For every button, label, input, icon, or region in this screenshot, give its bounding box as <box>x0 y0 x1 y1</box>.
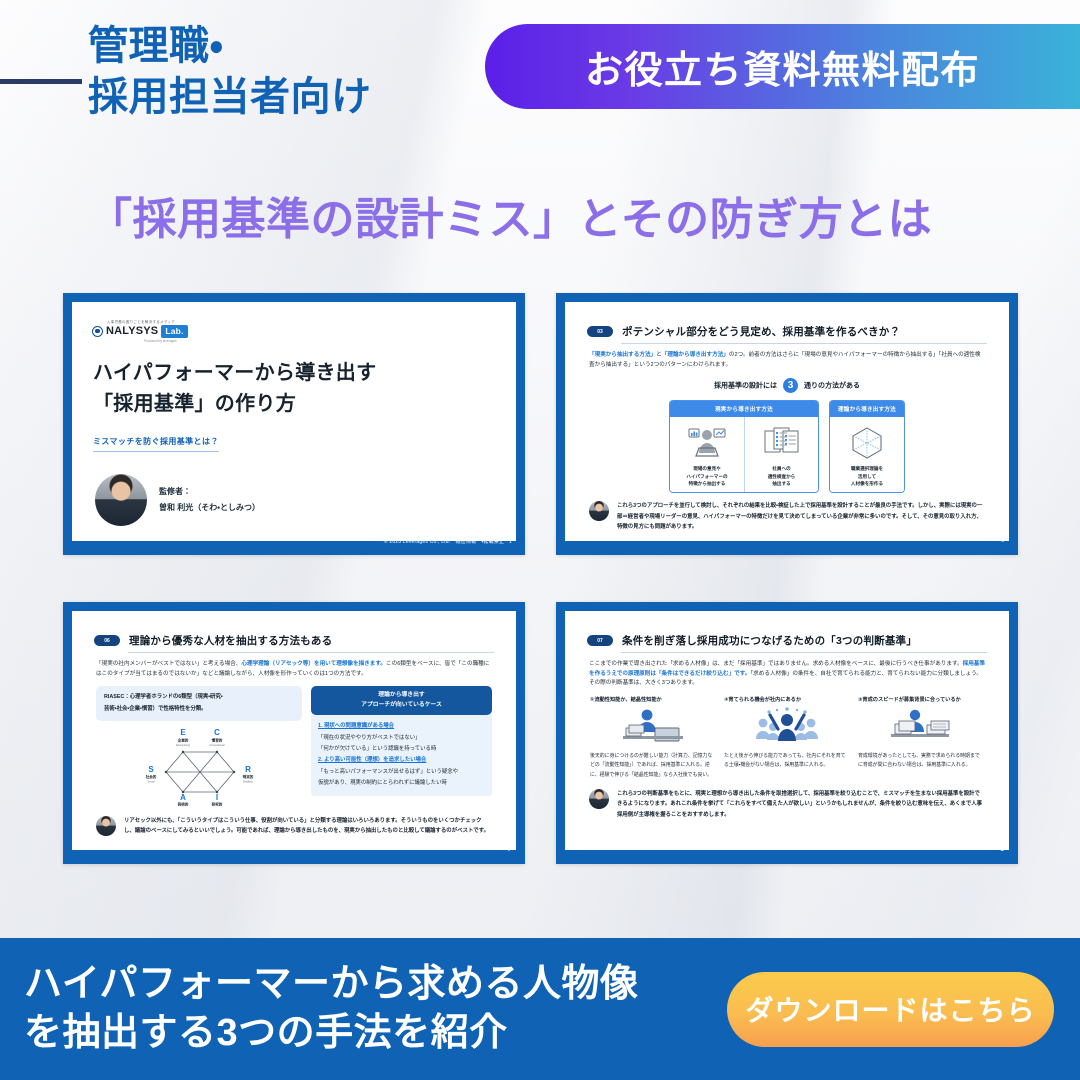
logo-name: NALYSYS <box>106 325 158 337</box>
supervisor-block: 監修者： 曽和 利光（そわ・としみつ） <box>95 474 502 526</box>
slide-footer-bar <box>556 850 1018 864</box>
svg-text:Realistic: Realistic <box>243 779 254 783</box>
slide-03-center-line: 採用基準の設計には 3 通りの方法がある <box>579 378 995 393</box>
criterion-3-head: ③育成のスピードが募集背景に合っているか <box>858 696 984 703</box>
criterion-2: ②育てられる機会が社内にあるか <box>724 696 850 781</box>
supervisor-label: 監修者： <box>159 484 260 499</box>
note-avatar <box>96 816 116 836</box>
cover-title-line2: 「採用基準」の作り方 <box>93 389 502 420</box>
theory-approach-item-1: 1. 現状への問題意識がある場合 <box>318 721 485 732</box>
slide-thumbnail-03[interactable]: 03 ポテンシャル部分をどう見定め、採用基準を作るべきか？ 「現実から抽出する方… <box>556 293 1018 555</box>
free-material-badge-label: お役立ち資料無料配布 <box>585 39 980 94</box>
supervisor-avatar <box>95 474 147 526</box>
logo-lab-badge: Lab. <box>161 325 187 338</box>
slide-03-center-prefix: 採用基準の設計には <box>714 383 777 390</box>
theory-approach-panel-body: 1. 現状への問題意識がある場合 「現在の状況ややり方がベストではない」 「何か… <box>311 715 492 796</box>
svg-text:Social: Social <box>147 779 154 783</box>
slide-page-number: 1 <box>509 539 512 545</box>
slide-03-note-text: これら3つのアプローチを並行して検討し、それぞれの結果を比較・検証した上で採用基… <box>617 501 984 533</box>
note-avatar <box>589 501 609 521</box>
logo-mark-icon <box>92 326 103 337</box>
method-cell-field-opinion-caption: 現場の意見やハイパフォーマーの特徴から抽出する <box>674 465 740 487</box>
criterion-3-text: 育成環境があったとしても、実務で求められる時期までに育成が間に合わない場合は、採… <box>858 752 984 771</box>
slide-copyright: © 2025 Leverages Co., Ltd. 機密情報 ・転載禁止 1 <box>384 538 512 545</box>
hexagon-radar-icon <box>834 423 900 461</box>
slide-03-lead-highlight-2: 「理論から導き出す方法」 <box>662 352 729 358</box>
header-kicker-line2: 採用担当者向け <box>88 72 488 123</box>
slide-06-title-rule <box>128 652 494 653</box>
theory-approach-item-6: 仮説があり、現実の制約にとらわれずに議論したい時 <box>318 778 485 789</box>
cover-subtitle: ミスマッチを防ぐ採用基準とは？ <box>93 436 219 452</box>
svg-text:現実的: 現実的 <box>243 774 254 779</box>
svg-text:R: R <box>245 765 251 774</box>
slide-07-lead-highlight: 採用基準を作るうえでの原理原則は「条件はできるだけ絞り込む」です。 <box>589 661 985 677</box>
slide-06-lead: 「現実の社内メンバーがベストではない」と考える場合、心理学理論（リアセック等）を… <box>96 660 492 679</box>
cta-headline: ハイパフォーマーから求める人物像 を抽出する3つの手法を紹介 <box>24 960 638 1059</box>
slide-03-number-bubble: 3 <box>783 378 798 393</box>
header-rule <box>0 79 82 84</box>
method-group-reality: 現実から導き出す方法 <box>669 400 819 493</box>
slide-07-title: 条件を削ぎ落し採用成功につなげるための「3つの判断基準」 <box>622 633 917 648</box>
svg-text:研究的: 研究的 <box>212 801 223 806</box>
person-documents-icon <box>858 705 984 749</box>
method-cell-career-theory-caption: 職業選択理論を活用して人材像を形作る <box>834 465 900 487</box>
criterion-2-head: ②育てられる機会が社内にあるか <box>724 696 850 703</box>
cta-banner: ハイパフォーマーから求める人物像 を抽出する3つの手法を紹介 ダウンロードはこち… <box>0 938 1080 1080</box>
svg-text:Enterprising: Enterprising <box>176 743 190 747</box>
note-avatar <box>589 789 609 809</box>
method-group-reality-head: 現実から導き出す方法 <box>670 401 818 417</box>
slide-footer-bar <box>63 850 525 864</box>
slide-03-lead-highlight-1: 「現実から抽出する方法」 <box>589 352 656 358</box>
logo-subline: Produced by leverages <box>144 339 502 343</box>
criterion-1: ①流動性知能か、結晶性知能か <box>590 696 716 781</box>
method-cell-aptitude-test: 社員への適性検査から抽出する <box>744 417 818 492</box>
slide-preview-grid: 人事労務の困りごとを解決するメディア NALYSYS Lab. Produced… <box>63 293 1018 873</box>
riasec-hexagon-diagram: E 企業的 Enterprising C 慣習的 Conventional S … <box>96 724 302 808</box>
nalysys-lab-logo: 人事労務の困りごとを解決するメディア NALYSYS Lab. Produced… <box>92 319 502 343</box>
method-cell-field-opinion: 現場の意見やハイパフォーマーの特徴から抽出する <box>670 417 744 492</box>
slide-footer-bar <box>556 541 1018 555</box>
method-group-theory: 理論から導き出す方法 <box>829 400 905 493</box>
slide-07-badge: 07 <box>587 635 613 646</box>
theory-approach-item-3: 「何かが欠けている」という認識を持っている時 <box>318 744 485 755</box>
svg-text:E: E <box>180 728 186 737</box>
slide-page-number: 4 <box>1001 538 1004 544</box>
person-laptop-chart-icon <box>674 423 740 461</box>
cover-title: ハイパフォーマーから導き出す 「採用基準」の作り方 <box>93 358 502 420</box>
download-button[interactable]: ダウンロードはこちら <box>727 972 1054 1047</box>
slide-03-title: ポテンシャル部分をどう見定め、採用基準を作るべきか？ <box>622 324 900 339</box>
criterion-1-head: ①流動性知能か、結晶性知能か <box>590 696 716 703</box>
poster-root: 管理職・ 採用担当者向け お役立ち資料無料配布 「採用基準の設計ミス」とその防ぎ… <box>0 0 1080 1080</box>
slide-07-lead: ここまでの作業で導き出された「求める人材像」は、まだ「採用基準」ではありません。… <box>589 660 985 689</box>
header-kicker-line1: 管理職・ <box>88 21 488 72</box>
svg-text:企業的: 企業的 <box>177 737 189 742</box>
header-kicker: 管理職・ 採用担当者向け <box>88 21 488 123</box>
riasec-definition: RIASEC：心理学者ホランドの6類型（現実・研究・ 芸術・社会・企業・慣習）で… <box>96 686 302 721</box>
slide-07-title-rule <box>621 652 987 653</box>
slide-03-title-rule <box>621 343 987 344</box>
method-cell-career-theory: 職業選択理論を活用して人材像を形作る <box>830 417 904 492</box>
riasec-caption-line1: RIASEC：心理学者ホランドの6類型（現実・研究・ <box>104 692 294 703</box>
slide-06-title: 理論から優秀な人材を抽出する方法もある <box>129 633 332 648</box>
svg-text:I: I <box>216 793 218 802</box>
method-cell-aptitude-test-caption: 社員への適性検査から抽出する <box>749 465 814 487</box>
slide-07-note-text: これら3つの判断基準をもとに、現実と理想から導き出した条件を取捨選択して、採用基… <box>617 789 984 821</box>
theory-approach-head-line2: アプローチが向いているケース <box>311 701 492 711</box>
slide-03-method-columns: 現実から導き出す方法 <box>579 400 995 493</box>
person-desk-laptop-icon <box>590 705 716 749</box>
svg-text:慣習的: 慣習的 <box>211 737 223 742</box>
svg-text:社会的: 社会的 <box>145 774 157 779</box>
page-title: 「採用基準の設計ミス」とその防ぎ方とは <box>88 183 1028 247</box>
copyright-text: © 2025 Leverages Co., Ltd. 機密情報 ・転載禁止 <box>384 539 504 545</box>
documents-stack-icon <box>749 423 814 461</box>
slide-03-note: これら3つのアプローチを並行して検討し、それぞれの結果を比較・検証した上で採用基… <box>589 501 984 533</box>
svg-text:S: S <box>148 765 154 774</box>
slide-page-number: 7 <box>508 847 511 853</box>
slide-07-note: これら3つの判断基準をもとに、現実と理想から導き出した条件を取捨選択して、採用基… <box>589 789 984 821</box>
method-group-theory-head: 理論から導き出す方法 <box>830 401 904 417</box>
slide-06-badge: 06 <box>94 635 120 646</box>
criterion-3: ③育成のスピードが募集背景に合っているか <box>858 696 984 781</box>
criterion-2-text: たとえ後から伸びる能力であっても、社内にそれを育てる土壌・機会がない場合は、採用… <box>724 752 850 771</box>
theory-approach-item-2: 「現在の状況ややり方がベストではない」 <box>318 733 485 744</box>
svg-text:C: C <box>214 728 220 737</box>
slide-03-badge: 03 <box>587 326 613 337</box>
svg-text:Conventional: Conventional <box>209 743 225 747</box>
cta-headline-line2: を抽出する3つの手法を紹介 <box>24 1009 638 1058</box>
theory-approach-item-4: 2. より高い可能性（理想）を追求したい場合 <box>318 755 485 766</box>
slide-thumbnail-07[interactable]: 07 条件を削ぎ落し採用成功につなげるための「3つの判断基準」 ここまでの作業で… <box>556 602 1018 864</box>
slide-06-lead-highlight: 心理学理論（リアセック等）を用いて理想像を描きます。 <box>241 661 386 667</box>
cta-headline-line1: ハイパフォーマーから求める人物像 <box>24 960 638 1009</box>
theory-approach-panel-head: 理論から導き出す アプローチが向いているケース <box>311 686 492 715</box>
theory-approach-head-line1: 理論から導き出す <box>311 691 492 701</box>
slide-06-note-text: リアセック以外にも、「こういうタイプはこういう仕事、役割が向いている」と分類する… <box>124 816 491 837</box>
download-button-label: ダウンロードはこちら <box>745 989 1035 1029</box>
supervisor-name: 曽和 利光（そわ・としみつ） <box>159 500 260 515</box>
slide-thumbnail-cover[interactable]: 人事労務の困りごとを解決するメディア NALYSYS Lab. Produced… <box>63 293 525 555</box>
cover-title-line1: ハイパフォーマーから導き出す <box>93 358 502 389</box>
criterion-1-text: 後天的に身につけるのが難しい能力（計算力、記憶力などの「流動性知能」）であれば、… <box>590 752 716 781</box>
logo-tagline: 人事労務の困りごとを解決するメディア <box>107 319 502 324</box>
slide-thumbnail-06[interactable]: 06 理論から優秀な人材を抽出する方法もある 「現実の社内メンバーがベストではな… <box>63 602 525 864</box>
slide-03-center-suffix: 通りの方法がある <box>804 383 860 390</box>
free-material-badge: お役立ち資料無料配布 <box>485 24 1080 109</box>
riasec-caption-line2: 芸術・社会・企業・慣習）で性格特性を分類。 <box>104 704 294 715</box>
svg-text:芸術的: 芸術的 <box>178 801 189 806</box>
slide-03-lead: 「現実から抽出する方法」と「理論から導き出す方法」の2つ。前者の方法はさらに「現… <box>589 351 985 370</box>
slide-page-number: 8 <box>1001 847 1004 853</box>
slide-06-note: リアセック以外にも、「こういうタイプはこういう仕事、役割が向いている」と分類する… <box>96 816 491 837</box>
svg-text:A: A <box>180 793 186 802</box>
criteria-columns: ①流動性知能か、結晶性知能か <box>590 696 984 781</box>
theory-approach-item-5: 「もっと高いパフォーマンスが出せるはず」という疑念や <box>318 767 485 778</box>
team-cheer-icon <box>724 705 850 749</box>
